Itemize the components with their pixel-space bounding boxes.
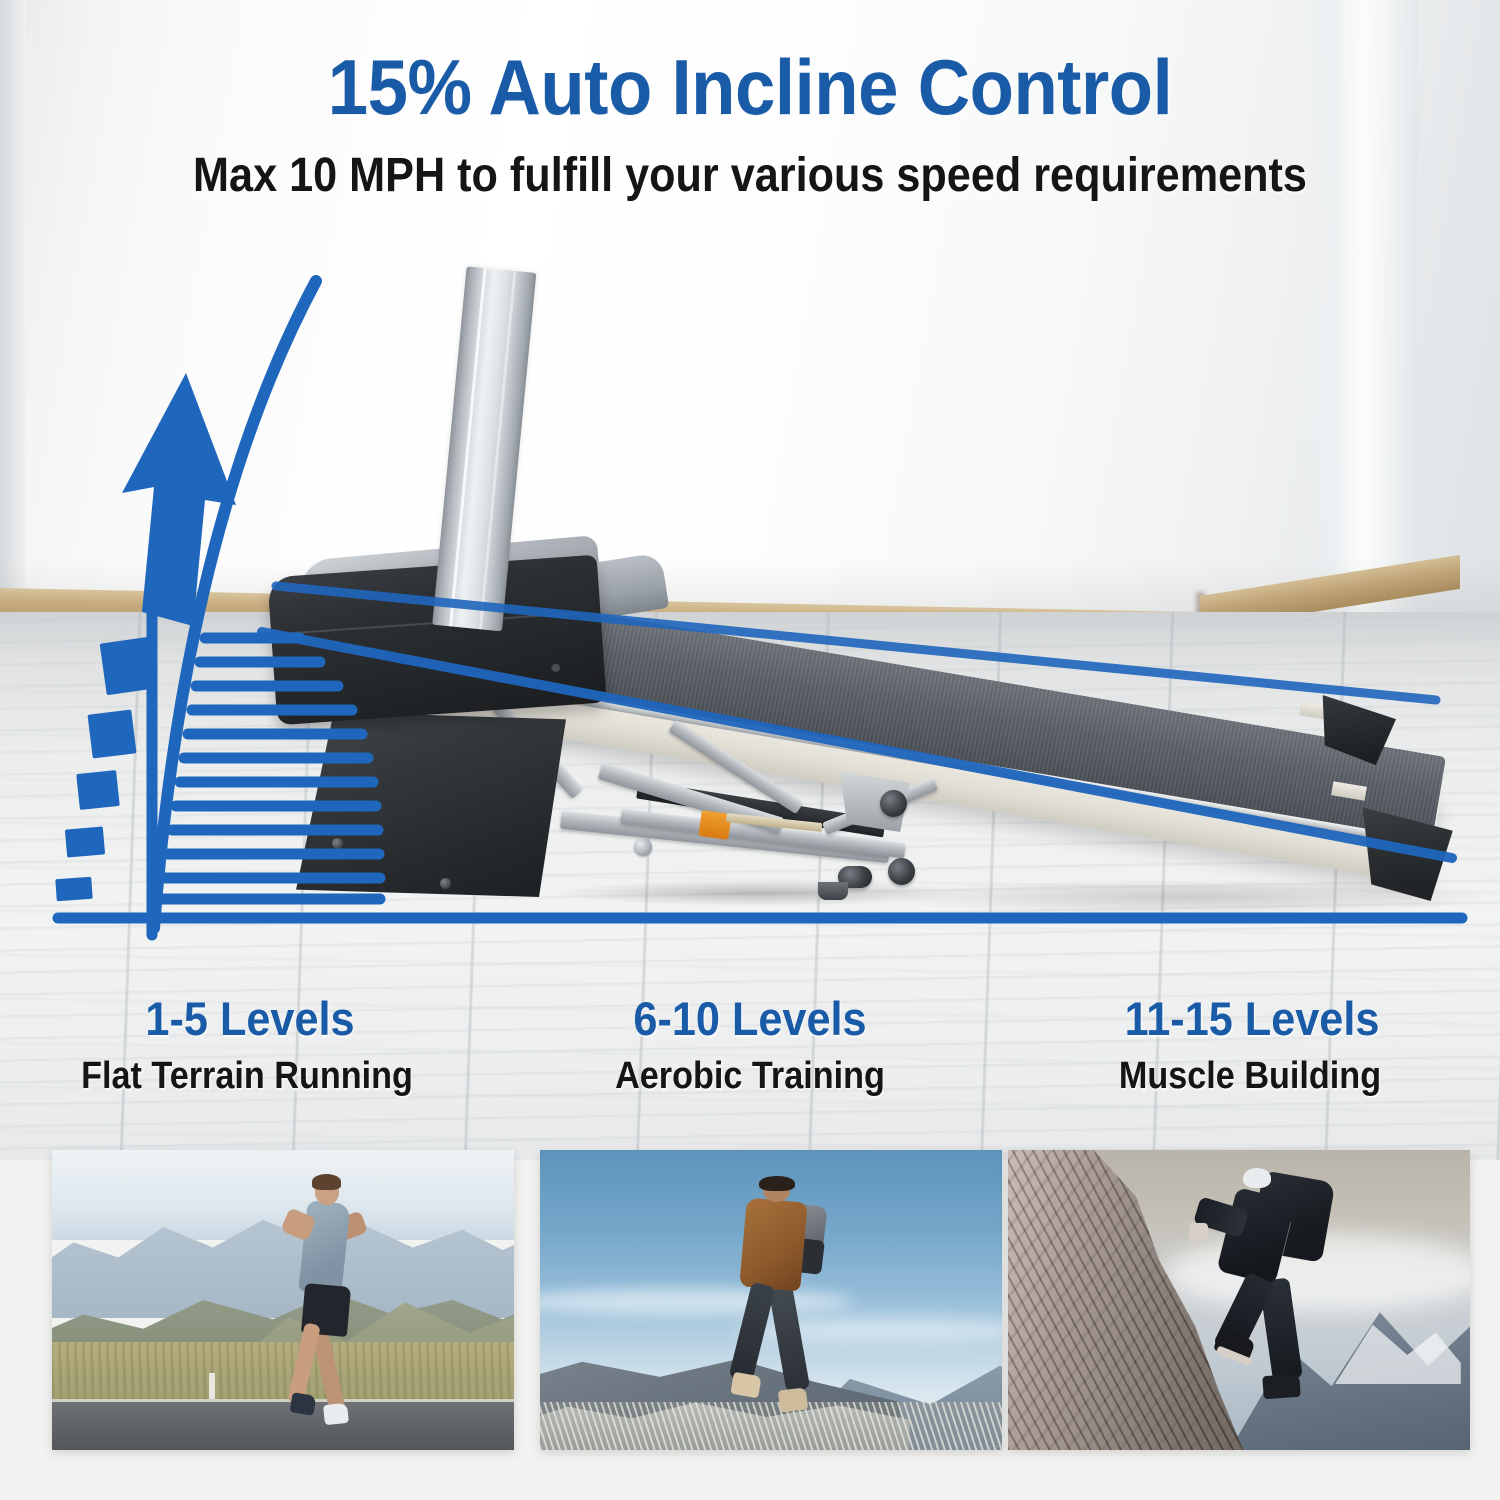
level-label-row: 1-5 Levels Flat Terrain Running 6-10 Lev… [0,995,1500,1096]
level-column-3: 11-15 Levels Muscle Building [1000,995,1500,1096]
jacket [740,1197,808,1291]
hood-seam [281,612,580,635]
hair [312,1174,341,1189]
roadside-marker [209,1373,215,1399]
level-activity-1: Flat Terrain Running [19,1057,474,1096]
base-screw [440,878,451,889]
deck-ground-shadow [900,880,1480,914]
photo-runner-on-desert-road [52,1150,514,1450]
hair [759,1176,795,1191]
boot-front [730,1372,761,1399]
transport-wheel [880,790,907,817]
post-highlight [449,268,486,627]
treadmill-base-foot [296,712,566,897]
hood-marking [551,662,561,672]
hiker-figure [716,1180,855,1426]
level-column-1: 1-5 Levels Flat Terrain Running [0,995,500,1096]
torso-jacket [1217,1187,1296,1285]
climber-figure [1193,1168,1359,1420]
boot-back [778,1387,808,1412]
photo-mountaineer-scrambling-rock [1008,1150,1470,1450]
level-activity-3: Muscle Building [1025,1057,1475,1096]
runner-figure [269,1177,389,1429]
activity-photo-strip [0,1150,1500,1460]
base-screw [332,838,343,849]
leg-front [287,1322,320,1404]
transport-wheel [888,858,915,885]
shoe-front [289,1392,316,1416]
pivot-bolt [634,838,652,856]
leveling-foot [818,882,848,900]
shoe-back [323,1403,349,1426]
level-column-2: 6-10 Levels Aerobic Training [500,995,1000,1096]
level-activity-2: Aerobic Training [525,1057,975,1096]
level-range-1: 1-5 Levels [20,995,480,1043]
page-subtitle: Max 10 MPH to fulfill your various speed… [75,148,1425,203]
level-range-3: 11-15 Levels [1024,995,1480,1043]
boot-back [1262,1373,1300,1398]
leg-front [729,1282,776,1383]
leg-back [767,1282,809,1393]
hand [1189,1223,1207,1241]
photo-hiker-climbing-ridge [540,1150,1002,1450]
page-title: 15% Auto Incline Control [53,42,1448,133]
helmet [1243,1168,1271,1188]
product-feature-poster: 15% Auto Incline Control Max 10 MPH to f… [0,0,1500,1500]
level-range-2: 6-10 Levels [520,995,980,1043]
